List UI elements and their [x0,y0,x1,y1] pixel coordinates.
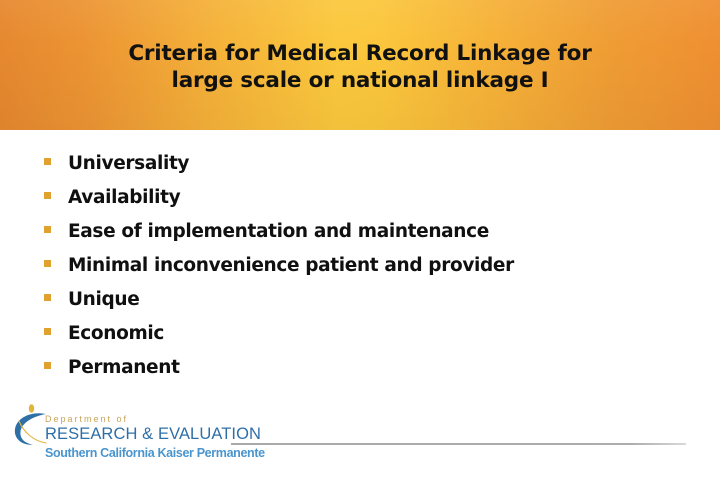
presentation-slide: Criteria for Medical Record Linkage for … [0,0,720,479]
square-bullet-icon [44,294,51,301]
list-item: Unique [44,289,514,323]
list-item: Economic [44,323,514,357]
logo-department-line: Department of [45,414,345,425]
logo-research-line: RESEARCH & EVALUATION [45,425,345,444]
list-item: Permanent [44,357,514,391]
bullet-label: Permanent [68,357,180,379]
slide-title-line-1: Criteria for Medical Record Linkage for [40,40,680,67]
logo-region-line: Southern California Kaiser Permanente [45,445,345,461]
slide-body: Universality Availability Ease of implem… [0,130,720,395]
footer-divider-rule [231,443,686,445]
bullet-label: Minimal inconvenience patient and provid… [68,255,514,277]
list-item: Availability [44,187,514,221]
bullet-label: Economic [68,323,164,345]
slide-title: Criteria for Medical Record Linkage for … [0,40,720,94]
list-item: Universality [44,153,514,187]
list-item: Minimal inconvenience patient and provid… [44,255,514,289]
square-bullet-icon [44,328,51,335]
square-bullet-icon [44,260,51,267]
square-bullet-icon [44,226,51,233]
list-item: Ease of implementation and maintenance [44,221,514,255]
square-bullet-icon [44,362,51,369]
bullet-label: Universality [68,153,189,175]
slide-footer: Department of RESEARCH & EVALUATION Sout… [0,396,720,479]
bullet-label: Unique [68,289,139,311]
logo-wordmark: Department of RESEARCH & EVALUATION Sout… [45,414,345,461]
criteria-bullet-list: Universality Availability Ease of implem… [44,153,514,391]
bullet-label: Ease of implementation and maintenance [68,221,489,243]
slide-title-line-2: large scale or national linkage I [40,67,680,94]
bullet-label: Availability [68,187,180,209]
square-bullet-icon [44,192,51,199]
square-bullet-icon [44,158,51,165]
